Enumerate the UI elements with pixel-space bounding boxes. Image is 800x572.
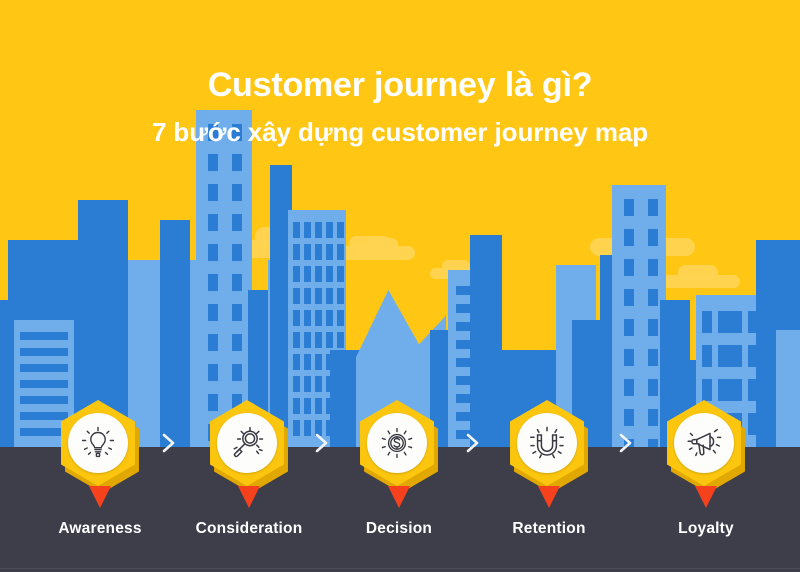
step-badge[interactable] [661,400,751,490]
journey-step-consideration[interactable]: Consideration [189,400,309,538]
map-pin-marker [538,486,560,508]
step-label: Loyalty [646,520,766,538]
infographic-canvas: Awareness Consideration Decision Retenti… [0,0,800,572]
page-title: Customer journey là gì? [0,66,800,105]
step-badge[interactable] [354,400,444,490]
map-pin-marker [695,486,717,508]
chevron-right-icon [311,428,333,458]
icon-disc [68,413,128,473]
magnet-icon [527,423,567,463]
icon-disc [517,413,577,473]
journey-step-loyalty[interactable]: Loyalty [646,400,766,538]
icon-disc [217,413,277,473]
icon-disc [367,413,427,473]
step-badge[interactable] [204,400,294,490]
megaphone-icon [684,423,724,463]
page-subtitle: 7 bước xây dựng customer journey map [0,117,800,148]
step-label: Awareness [40,520,160,538]
journey-step-retention[interactable]: Retention [489,400,609,538]
dollar-coin-icon [377,423,417,463]
icon-disc [674,413,734,473]
journey-step-decision[interactable]: Decision [339,400,459,538]
lightbulb-icon [78,423,118,463]
step-label: Decision [339,520,459,538]
map-pin-marker [388,486,410,508]
step-label: Retention [489,520,609,538]
chevron-right-icon [158,428,180,458]
map-pin-marker [238,486,260,508]
step-badge[interactable] [55,400,145,490]
step-label: Consideration [189,520,309,538]
chevron-right-icon [462,428,484,458]
chevron-right-icon [615,428,637,458]
step-badge[interactable] [504,400,594,490]
magnifying-glass-icon [227,423,267,463]
journey-step-awareness[interactable]: Awareness [40,400,160,538]
map-pin-marker [89,486,111,508]
